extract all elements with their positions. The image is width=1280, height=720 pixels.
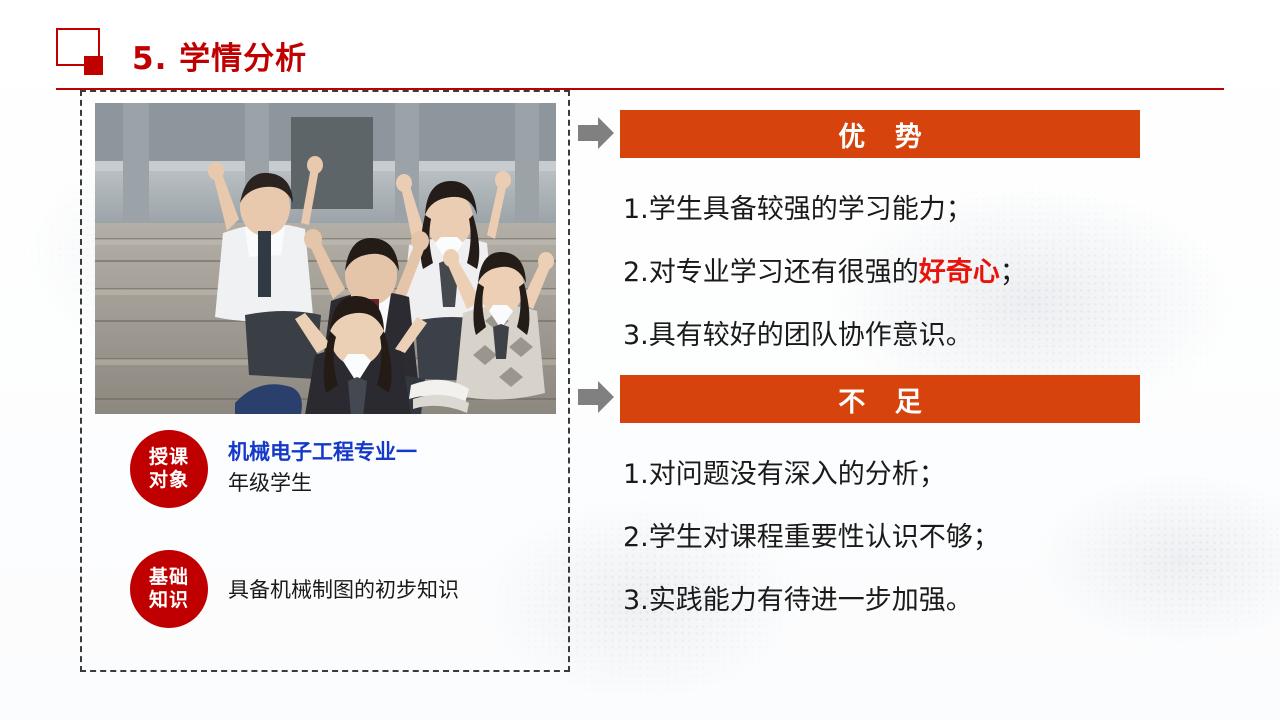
list-item: 2.对专业学习还有很强的好奇心；	[623, 241, 1183, 304]
list-item-highlight: 好奇心	[919, 257, 1000, 288]
section-title-weaknesses: 不 足	[620, 375, 1140, 423]
badge-prior-knowledge-line1: 基础	[149, 566, 189, 589]
list-item-text: 3.具有较好的团队协作意识。	[623, 320, 973, 351]
list-item-suffix: ；	[946, 194, 973, 225]
list-item-suffix: ；	[1000, 257, 1027, 288]
badge-prior-knowledge-line2: 知识	[149, 589, 189, 612]
badge-audience-line1: 授课	[149, 446, 189, 469]
list-item: 2.学生对课程重要性认识不够；	[623, 506, 1183, 569]
slide-header: 5. 学情分析	[0, 0, 1280, 92]
list-item: 1.学生具备较强的学习能力；	[623, 178, 1183, 241]
list-item-text: 1.学生具备较强的学习能力	[623, 194, 946, 225]
list-item: 3.具有较好的团队协作意识。	[623, 304, 1183, 367]
list-item-text: 2.学生对课程重要性认识不够	[623, 522, 973, 553]
list-item: 3.实践能力有待进一步加强。	[623, 569, 1183, 632]
badge-audience: 授课 对象	[130, 430, 208, 508]
badge-prior-knowledge: 基础 知识	[130, 550, 208, 628]
slide: 5. 学情分析	[0, 0, 1280, 720]
list-item-suffix: ；	[919, 459, 946, 490]
list-item: 1.对问题没有深入的分析；	[623, 443, 1183, 506]
list-item-text: 2.对专业学习还有很强的	[623, 257, 919, 288]
badge-audience-line2: 对象	[149, 469, 189, 492]
arrow-right-icon	[578, 381, 614, 413]
badge-prior-knowledge-text: 具备机械制图的初步知识	[228, 575, 459, 605]
students-photo-illustration	[95, 103, 556, 414]
list-item-text: 1.对问题没有深入的分析	[623, 459, 919, 490]
strengths-list: 1.学生具备较强的学习能力； 2.对专业学习还有很强的好奇心； 3.具有较好的团…	[623, 178, 1183, 367]
list-item-text: 3.实践能力有待进一步加强。	[623, 585, 973, 616]
badge-audience-text-line1: 机械电子工程专业一	[228, 437, 528, 468]
arrow-right-icon	[578, 117, 614, 149]
section-title-strengths: 优 势	[620, 110, 1140, 158]
badge-audience-text-line2: 年级学生	[228, 468, 528, 499]
list-item-suffix: ；	[973, 522, 1000, 553]
students-photo	[95, 103, 556, 414]
decor-square-filled	[84, 56, 103, 75]
weaknesses-list: 1.对问题没有深入的分析； 2.学生对课程重要性认识不够； 3.实践能力有待进一…	[623, 443, 1183, 632]
badge-audience-text: 机械电子工程专业一 年级学生	[228, 437, 528, 499]
page-title: 5. 学情分析	[132, 33, 307, 78]
